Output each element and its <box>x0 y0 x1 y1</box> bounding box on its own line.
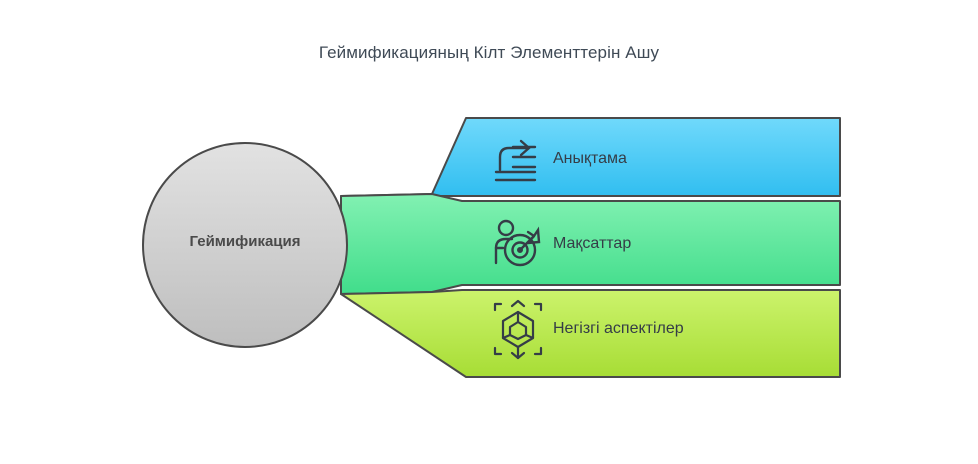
hub-circle-shape <box>143 143 347 347</box>
band-shape-aspects <box>341 290 840 377</box>
funnel-band-aspects[interactable] <box>341 290 840 377</box>
funnel-band-goals[interactable] <box>341 194 840 294</box>
funnel-diagram-svg <box>0 0 978 464</box>
funnel-band-definition[interactable] <box>341 118 840 196</box>
band-shape-definition <box>341 118 840 196</box>
band-shape-goals <box>341 194 840 294</box>
diagram-canvas: Геймификация Анықтама Мақсаттар Негізгі … <box>0 0 978 464</box>
hub-circle[interactable] <box>143 143 347 347</box>
